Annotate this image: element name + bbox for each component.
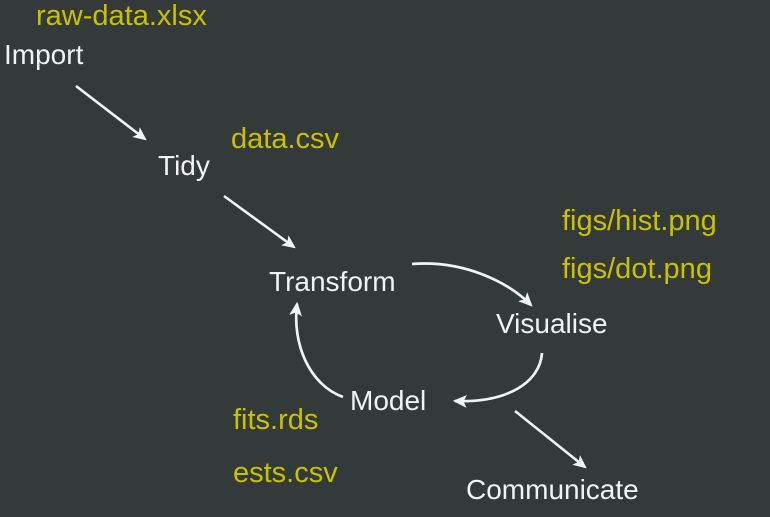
node-communicate: Communicate bbox=[466, 476, 639, 504]
node-model: Model bbox=[350, 387, 426, 415]
file-label-figs-dot-png: figs/dot.png bbox=[562, 255, 712, 284]
node-import: Import bbox=[4, 41, 83, 69]
arrow-visualise-to-communicate bbox=[515, 411, 585, 467]
file-label-figs-hist-png: figs/hist.png bbox=[562, 207, 717, 236]
file-label-raw-data: raw-data.xlsx bbox=[36, 2, 207, 31]
file-label-ests-csv: ests.csv bbox=[233, 459, 338, 488]
node-visualise: Visualise bbox=[496, 310, 608, 338]
arrow-transform-to-visualise bbox=[412, 264, 531, 305]
arrow-model-to-transform bbox=[296, 304, 343, 397]
workflow-diagram: Import Tidy Transform Visualise Model Co… bbox=[0, 0, 770, 517]
node-tidy: Tidy bbox=[158, 152, 210, 180]
arrow-tidy-to-transform bbox=[224, 196, 294, 247]
file-label-data-csv: data.csv bbox=[231, 125, 339, 154]
file-label-fits-rds: fits.rds bbox=[233, 406, 318, 435]
arrow-visualise-to-model bbox=[455, 353, 542, 401]
arrow-import-to-tidy bbox=[76, 86, 145, 139]
node-transform: Transform bbox=[269, 268, 396, 296]
